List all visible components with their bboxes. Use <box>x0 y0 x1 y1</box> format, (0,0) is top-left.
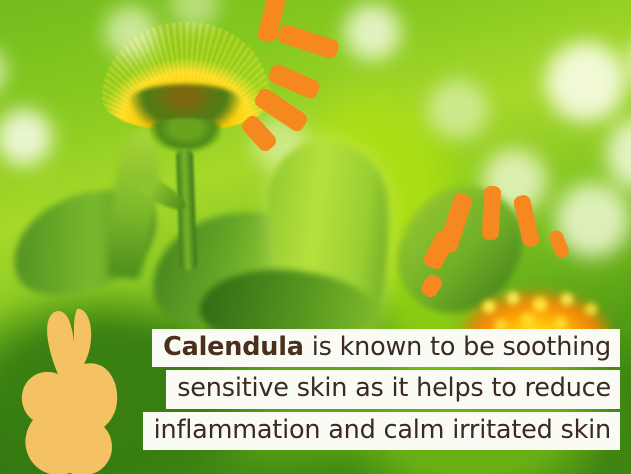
caption-block: Calendula is known to be soothing sensit… <box>143 329 620 451</box>
caption-line-2: sensitive skin as it helps to reduce <box>166 370 620 409</box>
caption-keyword: Calendula <box>163 332 304 362</box>
caption-line-1-rest: is known to be soothing <box>304 332 611 362</box>
caption-line-3: inflammation and calm irritated skin <box>143 412 620 451</box>
caption-line-1: Calendula is known to be soothing <box>152 329 620 368</box>
cruelty-free-bunny-icon <box>14 306 126 474</box>
sparkle-ray <box>482 186 502 241</box>
calendula-banner: Calendula is known to be soothing sensit… <box>0 0 631 474</box>
